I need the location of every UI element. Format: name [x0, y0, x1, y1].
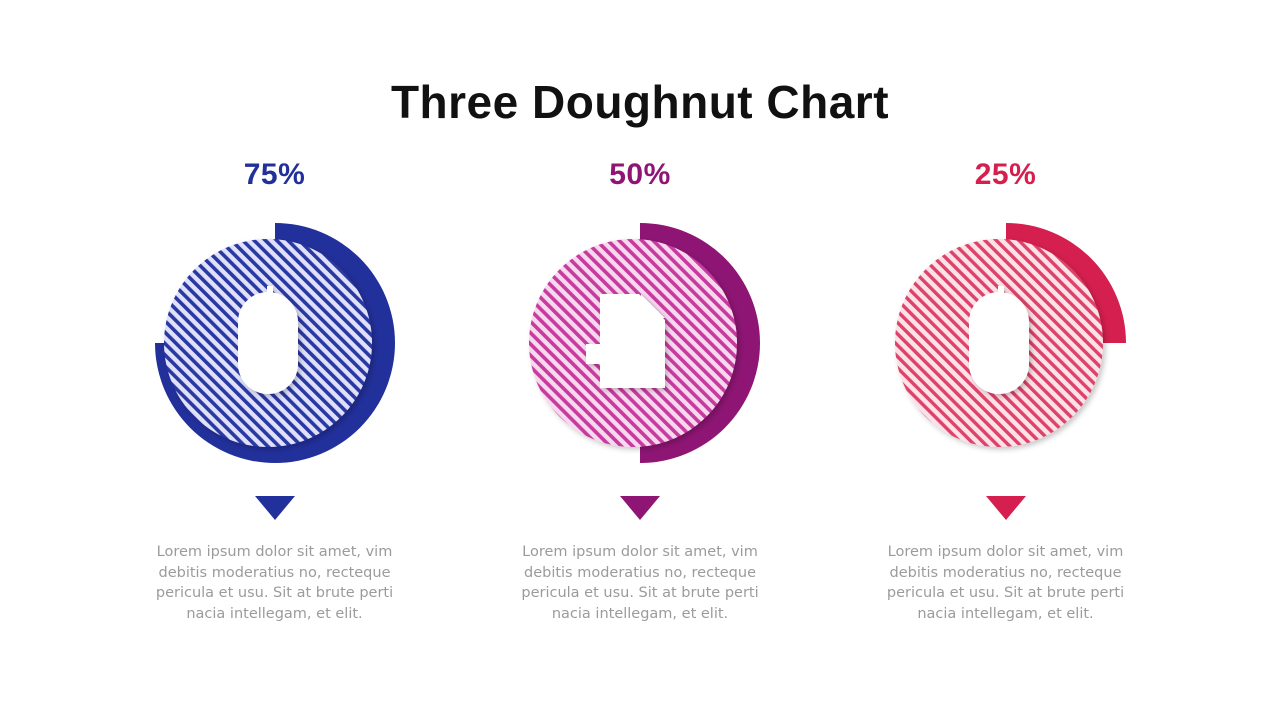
- pointer-triangle-2: [620, 496, 660, 520]
- page-title: Three Doughnut Chart: [0, 77, 1280, 128]
- doughnut-svg-3: [875, 212, 1137, 474]
- mouse-icon: [238, 286, 298, 394]
- doughnut-column-1: 75%: [92, 160, 457, 639]
- doughnut-column-2: 50%: [458, 160, 823, 639]
- percent-label-3: 25%: [975, 160, 1037, 190]
- description-text-3: Lorem ipsum dolor sit amet, vim debitis …: [882, 542, 1130, 624]
- slide-canvas: Three Doughnut Chart 75%: [0, 0, 1280, 720]
- doughnut-column-3: 25%: [823, 160, 1188, 639]
- pointer-triangle-3: [986, 496, 1026, 520]
- doughnut-chart-2[interactable]: [509, 212, 771, 474]
- doughnut-columns: 75%: [92, 160, 1188, 639]
- percent-label-2: 50%: [609, 160, 671, 190]
- doughnut-chart-3[interactable]: [875, 212, 1137, 474]
- description-text-1: Lorem ipsum dolor sit amet, vim debitis …: [151, 542, 399, 624]
- doughnut-svg-1: [144, 212, 406, 474]
- doughnut-chart-1[interactable]: [144, 212, 406, 474]
- percent-label-1: 75%: [244, 160, 306, 190]
- description-text-2: Lorem ipsum dolor sit amet, vim debitis …: [516, 542, 764, 624]
- mouse-icon: [969, 286, 1029, 394]
- pointer-triangle-1: [255, 496, 295, 520]
- doughnut-svg-2: [509, 212, 771, 474]
